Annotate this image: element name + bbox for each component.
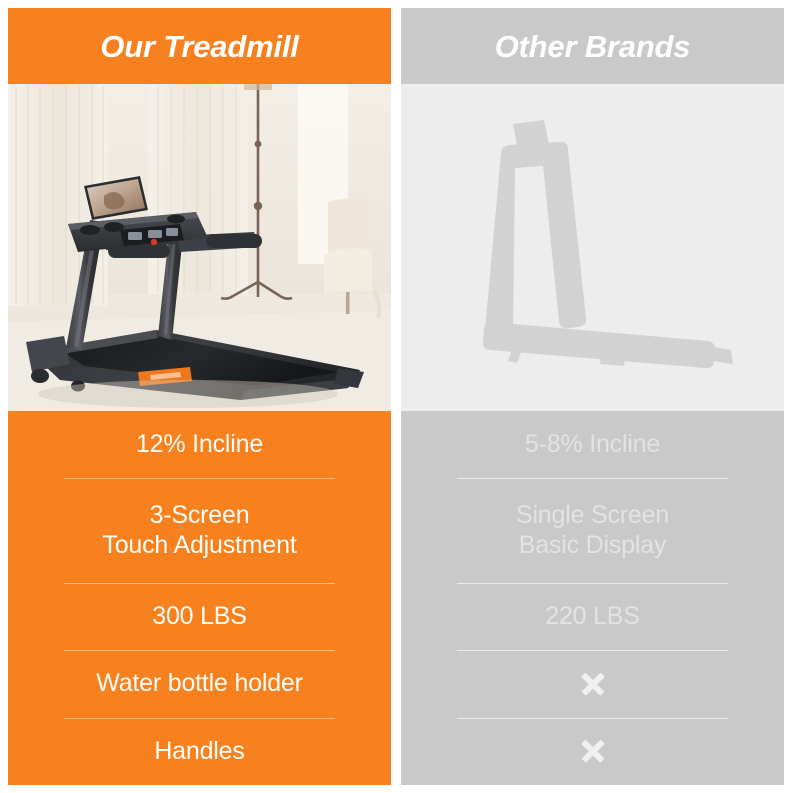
treadmill-silhouette-icon — [401, 84, 784, 411]
feature-label: Handles — [154, 737, 244, 767]
feature-label: 3-Screen Touch Adjustment — [102, 501, 296, 560]
column-title-other-brands: Other Brands — [495, 31, 691, 62]
feature-label: 300 LBS — [152, 602, 247, 632]
feature-row: 3-Screen Touch Adjustment — [8, 478, 391, 582]
feature-label: 12% Incline — [136, 430, 263, 460]
feature-row: 300 LBS — [8, 583, 391, 650]
header-band-other-brands: Other Brands — [401, 8, 784, 84]
feature-row: Handles — [8, 718, 391, 785]
treadmill-photo-illustration — [8, 84, 391, 411]
feature-label: 220 LBS — [545, 602, 640, 632]
cross-icon — [580, 671, 606, 697]
feature-row: 220 LBS — [401, 583, 784, 650]
column-title-our-treadmill: Our Treadmill — [100, 31, 298, 62]
feature-list-our-treadmill: 12% Incline 3-Screen Touch Adjustment 30… — [8, 411, 391, 785]
feature-row: 5-8% Incline — [401, 411, 784, 478]
feature-row — [401, 718, 784, 785]
feature-list-other-brands: 5-8% Incline Single Screen Basic Display… — [401, 411, 784, 785]
feature-row: 12% Incline — [8, 411, 391, 478]
comparison-infographic: Our Treadmill — [0, 0, 800, 793]
feature-label: Water bottle holder — [96, 669, 303, 699]
feature-label: Single Screen Basic Display — [516, 501, 669, 560]
feature-row — [401, 650, 784, 717]
feature-row: Water bottle holder — [8, 650, 391, 717]
header-band-our-treadmill: Our Treadmill — [8, 8, 391, 84]
feature-label: 5-8% Incline — [525, 430, 660, 460]
column-our-treadmill: Our Treadmill — [8, 8, 391, 785]
product-photo-our-treadmill — [8, 84, 391, 411]
cross-icon — [580, 738, 606, 764]
silhouette-other-brands — [401, 84, 784, 411]
feature-row: Single Screen Basic Display — [401, 478, 784, 582]
column-other-brands: Other Brands — [401, 8, 784, 785]
